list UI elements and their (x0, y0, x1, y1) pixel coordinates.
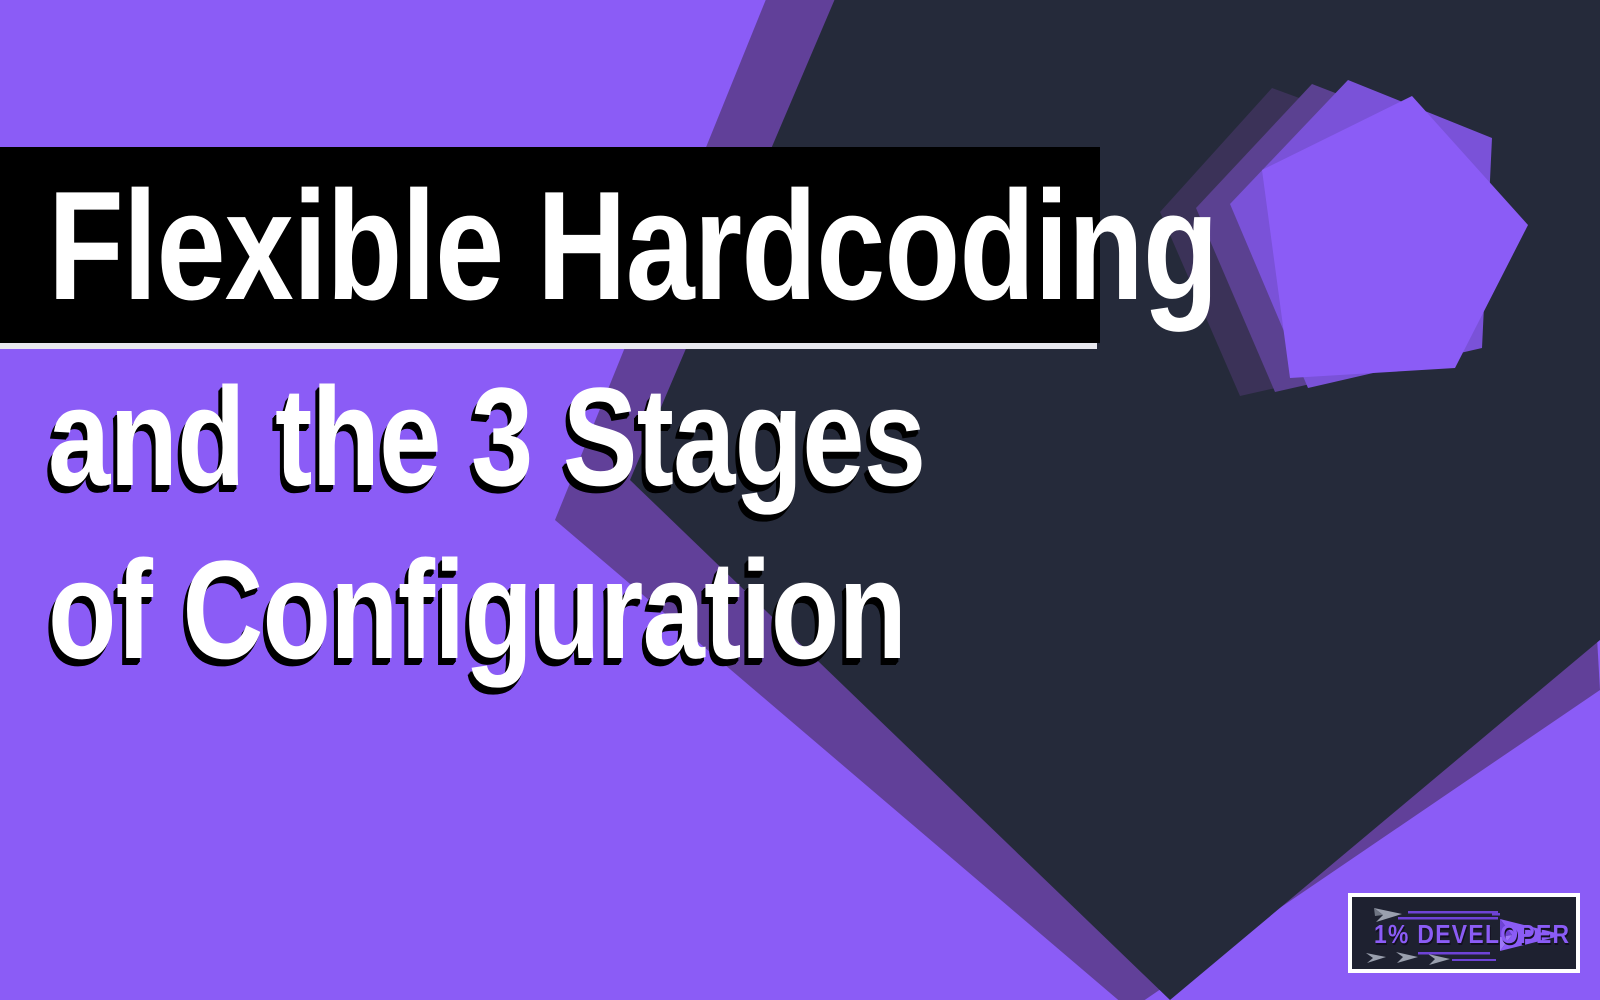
paper-plane-icon (1396, 952, 1418, 963)
headline-underline-rule (0, 343, 1097, 349)
paper-plane-icon (1428, 954, 1450, 965)
page-title-line-2: and the 3 Stages (48, 362, 925, 512)
title-block: Flexible Hardcoding and the 3 Stages of … (0, 0, 1600, 1000)
paper-plane-icon (1366, 953, 1386, 963)
slide-canvas: Flexible Hardcoding and the 3 Stages of … (0, 0, 1600, 1000)
page-title-line-1: Flexible Hardcoding (48, 156, 880, 336)
brand-logo-badge[interactable]: 1% DEVELOPER (1348, 893, 1580, 973)
page-title-line-3: of Configuration (48, 535, 906, 685)
logo-wordmark: 1% DEVELOPER (1374, 921, 1570, 947)
